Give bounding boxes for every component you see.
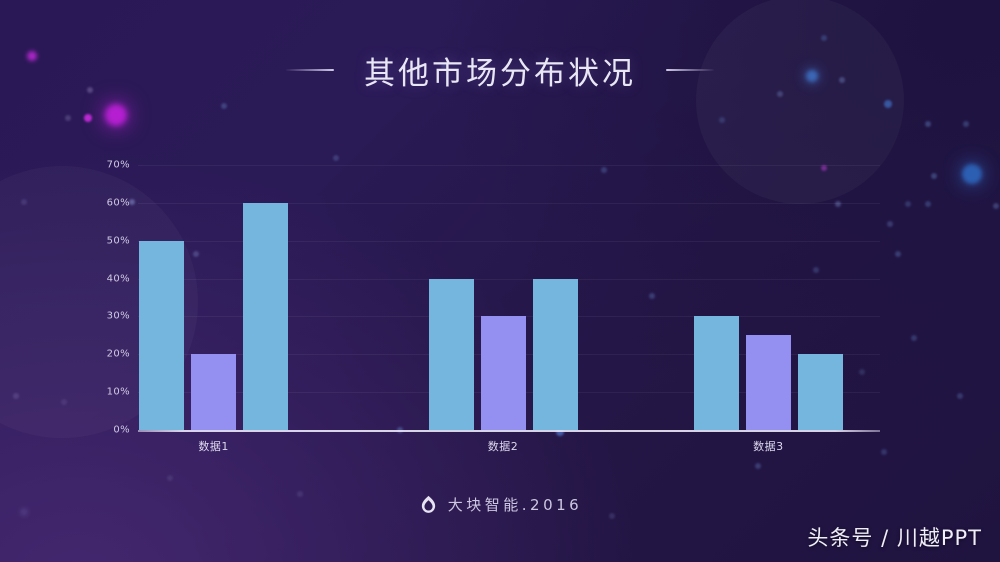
title-dash-right-icon [666, 69, 714, 71]
x-axis-tick-label: 数据3 [753, 438, 784, 454]
bar [481, 316, 526, 430]
bar [533, 279, 578, 430]
chart-bars [138, 165, 880, 430]
y-axis-tick-label: 10% [107, 387, 130, 398]
title-bar: 其他市场分布状况 [0, 44, 1000, 96]
y-axis-tick-label: 40% [107, 273, 130, 284]
watermark-text: 头条号 / 川越PPT [807, 522, 982, 552]
droplet-logo-icon [418, 494, 439, 515]
bar [191, 354, 236, 430]
footer: 大块智能.2016 [0, 489, 1000, 519]
y-axis-tick-label: 70% [107, 160, 130, 171]
bar-chart: 0%10%20%30%40%50%60%70% 数据1数据2数据3 [0, 150, 1000, 450]
bar [139, 241, 184, 430]
decor-dot [221, 103, 227, 109]
y-axis-tick-label: 0% [113, 425, 130, 436]
y-axis-tick-label: 30% [107, 311, 130, 322]
decor-dot [884, 100, 892, 108]
decor-dot [755, 463, 761, 469]
slide-root: 其他市场分布状况 0%10%20%30%40%50%60%70% 数据1数据2数… [0, 0, 1000, 562]
bar [694, 316, 739, 430]
y-axis-tick-label: 20% [107, 349, 130, 360]
y-axis-labels: 0%10%20%30%40%50%60%70% [98, 165, 130, 430]
decor-dot [65, 115, 71, 121]
decor-dot [963, 121, 969, 127]
decor-dot [719, 117, 725, 123]
bar [429, 279, 474, 430]
y-axis-tick-label: 60% [107, 197, 130, 208]
page-title: 其他市场分布状况 [364, 48, 636, 93]
decor-dot [105, 104, 127, 126]
x-axis-line [138, 430, 880, 432]
footer-brand-text: 大块智能.2016 [448, 494, 582, 515]
y-axis-tick-label: 50% [107, 235, 130, 246]
bar [798, 354, 843, 430]
x-axis-tick-label: 数据2 [488, 438, 519, 454]
decor-dot [925, 121, 931, 127]
title-dash-left-icon [286, 69, 334, 71]
decor-dot [167, 475, 173, 481]
bar [746, 335, 791, 430]
decor-dot [821, 35, 827, 41]
x-axis-tick-label: 数据1 [198, 438, 229, 454]
decor-dot [84, 114, 92, 122]
bar [243, 203, 288, 430]
